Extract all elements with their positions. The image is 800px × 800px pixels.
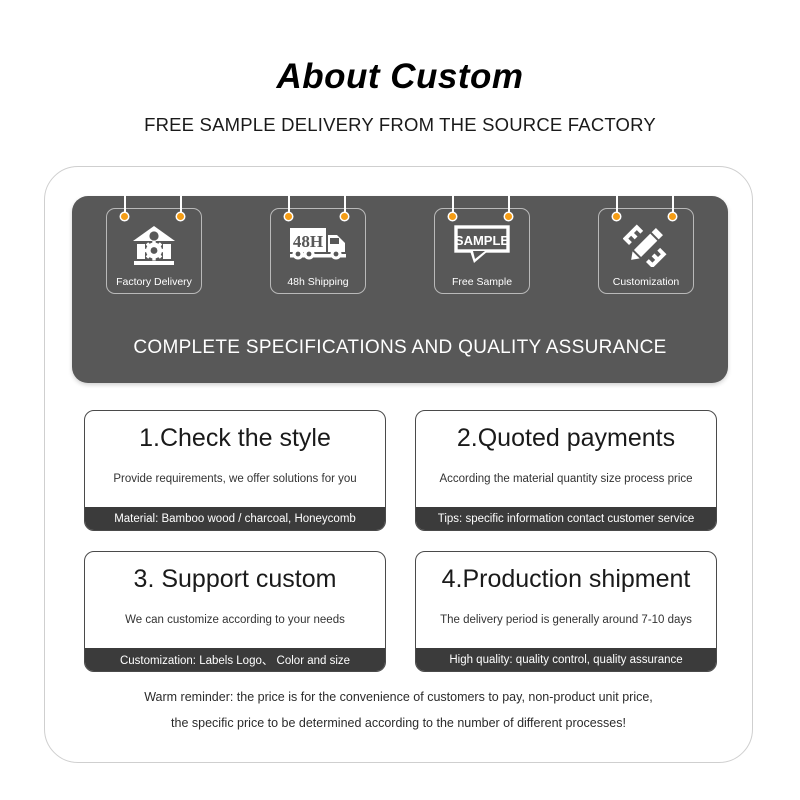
card-description: Provide requirements, we offer solutions… [85, 453, 385, 507]
card-description: We can customize according to your needs [85, 594, 385, 648]
card-title: 4.Production shipment [416, 552, 716, 594]
badge-pin-left [449, 213, 456, 220]
page-title: About Custom [0, 0, 800, 97]
badge-pin-left [613, 213, 620, 220]
card-description: The delivery period is generally around … [416, 594, 716, 648]
badge-pin-left [285, 213, 292, 220]
card-title: 1.Check the style [85, 411, 385, 453]
card-footer-bar: Material: Bamboo wood / charcoal, Honeyc… [85, 507, 385, 530]
delivery-truck-48h-icon: 48H [289, 223, 347, 267]
feature-panel: Factory Delivery 48H 48h Shippi [72, 196, 728, 383]
badge-48h-shipping[interactable]: 48H 48h Shipping [270, 208, 366, 294]
badge-label: 48h Shipping [271, 276, 365, 288]
badge-pin-right [505, 213, 512, 220]
feature-badges-row: Factory Delivery 48H 48h Shippi [72, 196, 728, 316]
panel-tagline: COMPLETE SPECIFICATIONS AND QUALITY ASSU… [72, 337, 728, 359]
badge-label: Customization [599, 276, 693, 288]
badge-pin-right [177, 213, 184, 220]
sample-speech-bubble-icon: SAMPLE [454, 223, 510, 267]
card-title: 3. Support custom [85, 552, 385, 594]
card-footer-bar: Customization: Labels Logo、 Color and si… [85, 648, 385, 671]
page-header: About Custom FREE SAMPLE DELIVERY FROM T… [0, 0, 800, 136]
step-card-2[interactable]: 2.Quoted payments According the material… [415, 410, 717, 531]
factory-building-gear-icon [131, 223, 177, 267]
steps-grid: 1.Check the style Provide requirements, … [84, 410, 718, 672]
footer-note-line-1: Warm reminder: the price is for the conv… [44, 684, 753, 710]
badge-customization[interactable]: Customization [598, 208, 694, 294]
badge-label: Factory Delivery [107, 276, 201, 288]
footer-note-line-2: the specific price to be determined acco… [44, 710, 753, 736]
badge-free-sample[interactable]: SAMPLE Free Sample [434, 208, 530, 294]
badge-pin-right [669, 213, 676, 220]
badge-pin-right [341, 213, 348, 220]
card-footer-bar: High quality: quality control, quality a… [416, 648, 716, 671]
footer-note: Warm reminder: the price is for the conv… [44, 684, 753, 737]
card-description: According the material quantity size pro… [416, 453, 716, 507]
badge-pin-left [121, 213, 128, 220]
truck-icon-text: 48H [293, 232, 323, 251]
step-card-1[interactable]: 1.Check the style Provide requirements, … [84, 410, 386, 531]
card-title: 2.Quoted payments [416, 411, 716, 453]
badge-factory-delivery[interactable]: Factory Delivery [106, 208, 202, 294]
pencil-ruler-icon [623, 223, 669, 267]
sample-icon-text: SAMPLE [455, 233, 510, 248]
badge-label: Free Sample [435, 276, 529, 288]
step-card-4[interactable]: 4.Production shipment The delivery perio… [415, 551, 717, 672]
step-card-3[interactable]: 3. Support custom We can customize accor… [84, 551, 386, 672]
page-subtitle: FREE SAMPLE DELIVERY FROM THE SOURCE FAC… [0, 97, 800, 136]
card-footer-bar: Tips: specific information contact custo… [416, 507, 716, 530]
